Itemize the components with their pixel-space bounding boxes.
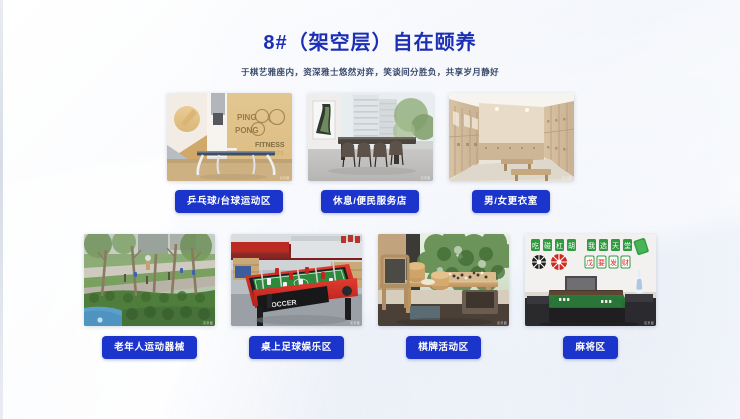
amenity-card[interactable]: 实景图 休息/便民服务店 [308,93,433,213]
slide-canvas: 8#（架空层）自在颐养 于棋艺雅座内，资深雅士悠然对弈，笑谈间分胜负，共享岁月静… [0,0,740,419]
amenity-row-2: 实景图 老年人运动器械 [0,234,740,359]
amenity-card[interactable]: 实景图 棋牌活动区 [378,234,509,359]
photo-watermark: 实景图 [421,176,431,180]
svg-text:FITNESS: FITNESS [255,142,285,149]
photo-watermark: 实景图 [562,176,572,180]
svg-text:选: 选 [600,241,607,250]
amenity-label-mahjong[interactable]: 麻将区 [563,336,617,359]
mahjong-room-photo: 吃碰 杠胡 我选 天堂 [525,234,656,326]
photo-watermark: 实景图 [280,176,290,180]
svg-text:胡: 胡 [568,241,575,250]
svg-text:杠: 杠 [556,241,563,250]
amenity-label-senior-fitness[interactable]: 老年人运动器械 [102,336,197,359]
foosball-table-photo: SOCCER 实景图 [231,234,362,326]
svg-text:要: 要 [598,259,605,267]
amenity-row-1: PING PONG FITNESS FITNESS SPORTS [0,93,740,213]
svg-text:发: 发 [610,258,617,267]
svg-text:我: 我 [588,241,595,250]
amenity-label-lounge[interactable]: 休息/便民服务店 [321,190,419,213]
svg-text:戊: 戊 [586,258,593,267]
photo-watermark: 实景图 [203,321,213,325]
svg-text:碰: 碰 [544,241,551,250]
amenity-label-foosball[interactable]: 桌上足球娱乐区 [249,336,344,359]
svg-text:天: 天 [612,242,619,250]
page-title: 8#（架空层）自在颐养 [0,30,740,56]
svg-text:PING: PING [237,113,257,122]
amenity-card[interactable]: PING PONG FITNESS FITNESS SPORTS [167,93,292,213]
svg-text:PONG: PONG [235,126,259,135]
amenity-card[interactable]: 实景图 老年人运动器械 [84,234,215,359]
go-chess-table-photo: 实景图 [378,234,509,326]
lounge-service-photo: 实景图 [308,93,433,181]
amenity-card[interactable]: SOCCER 实景图 桌上足球娱乐区 [231,234,362,359]
locker-room-photo: 实景图 [449,93,574,181]
photo-watermark: 实景图 [644,321,654,325]
amenity-card[interactable]: 实景图 男/女更衣室 [449,93,574,213]
svg-text:吃: 吃 [532,241,539,250]
amenity-label-ping-pong[interactable]: 乒乓球/台球运动区 [175,190,283,213]
photo-watermark: 实景图 [350,321,360,325]
photo-watermark: 实景图 [497,321,507,325]
slide-header: 8#（架空层）自在颐养 于棋艺雅座内，资深雅士悠然对弈，笑谈间分胜负，共享岁月静… [0,30,740,78]
svg-text:财: 财 [622,258,629,267]
ping-pong-room-photo: PING PONG FITNESS FITNESS SPORTS [167,93,292,181]
svg-text:堂: 堂 [624,241,631,250]
amenity-card[interactable]: 吃碰 杠胡 我选 天堂 [525,234,656,359]
garden-fitness-photo: 实景图 [84,234,215,326]
amenity-label-chess-cards[interactable]: 棋牌活动区 [406,336,481,359]
amenity-label-locker-room[interactable]: 男/女更衣室 [472,190,550,213]
page-subtitle: 于棋艺雅座内，资深雅士悠然对弈，笑谈间分胜负，共享岁月静好 [0,66,740,78]
